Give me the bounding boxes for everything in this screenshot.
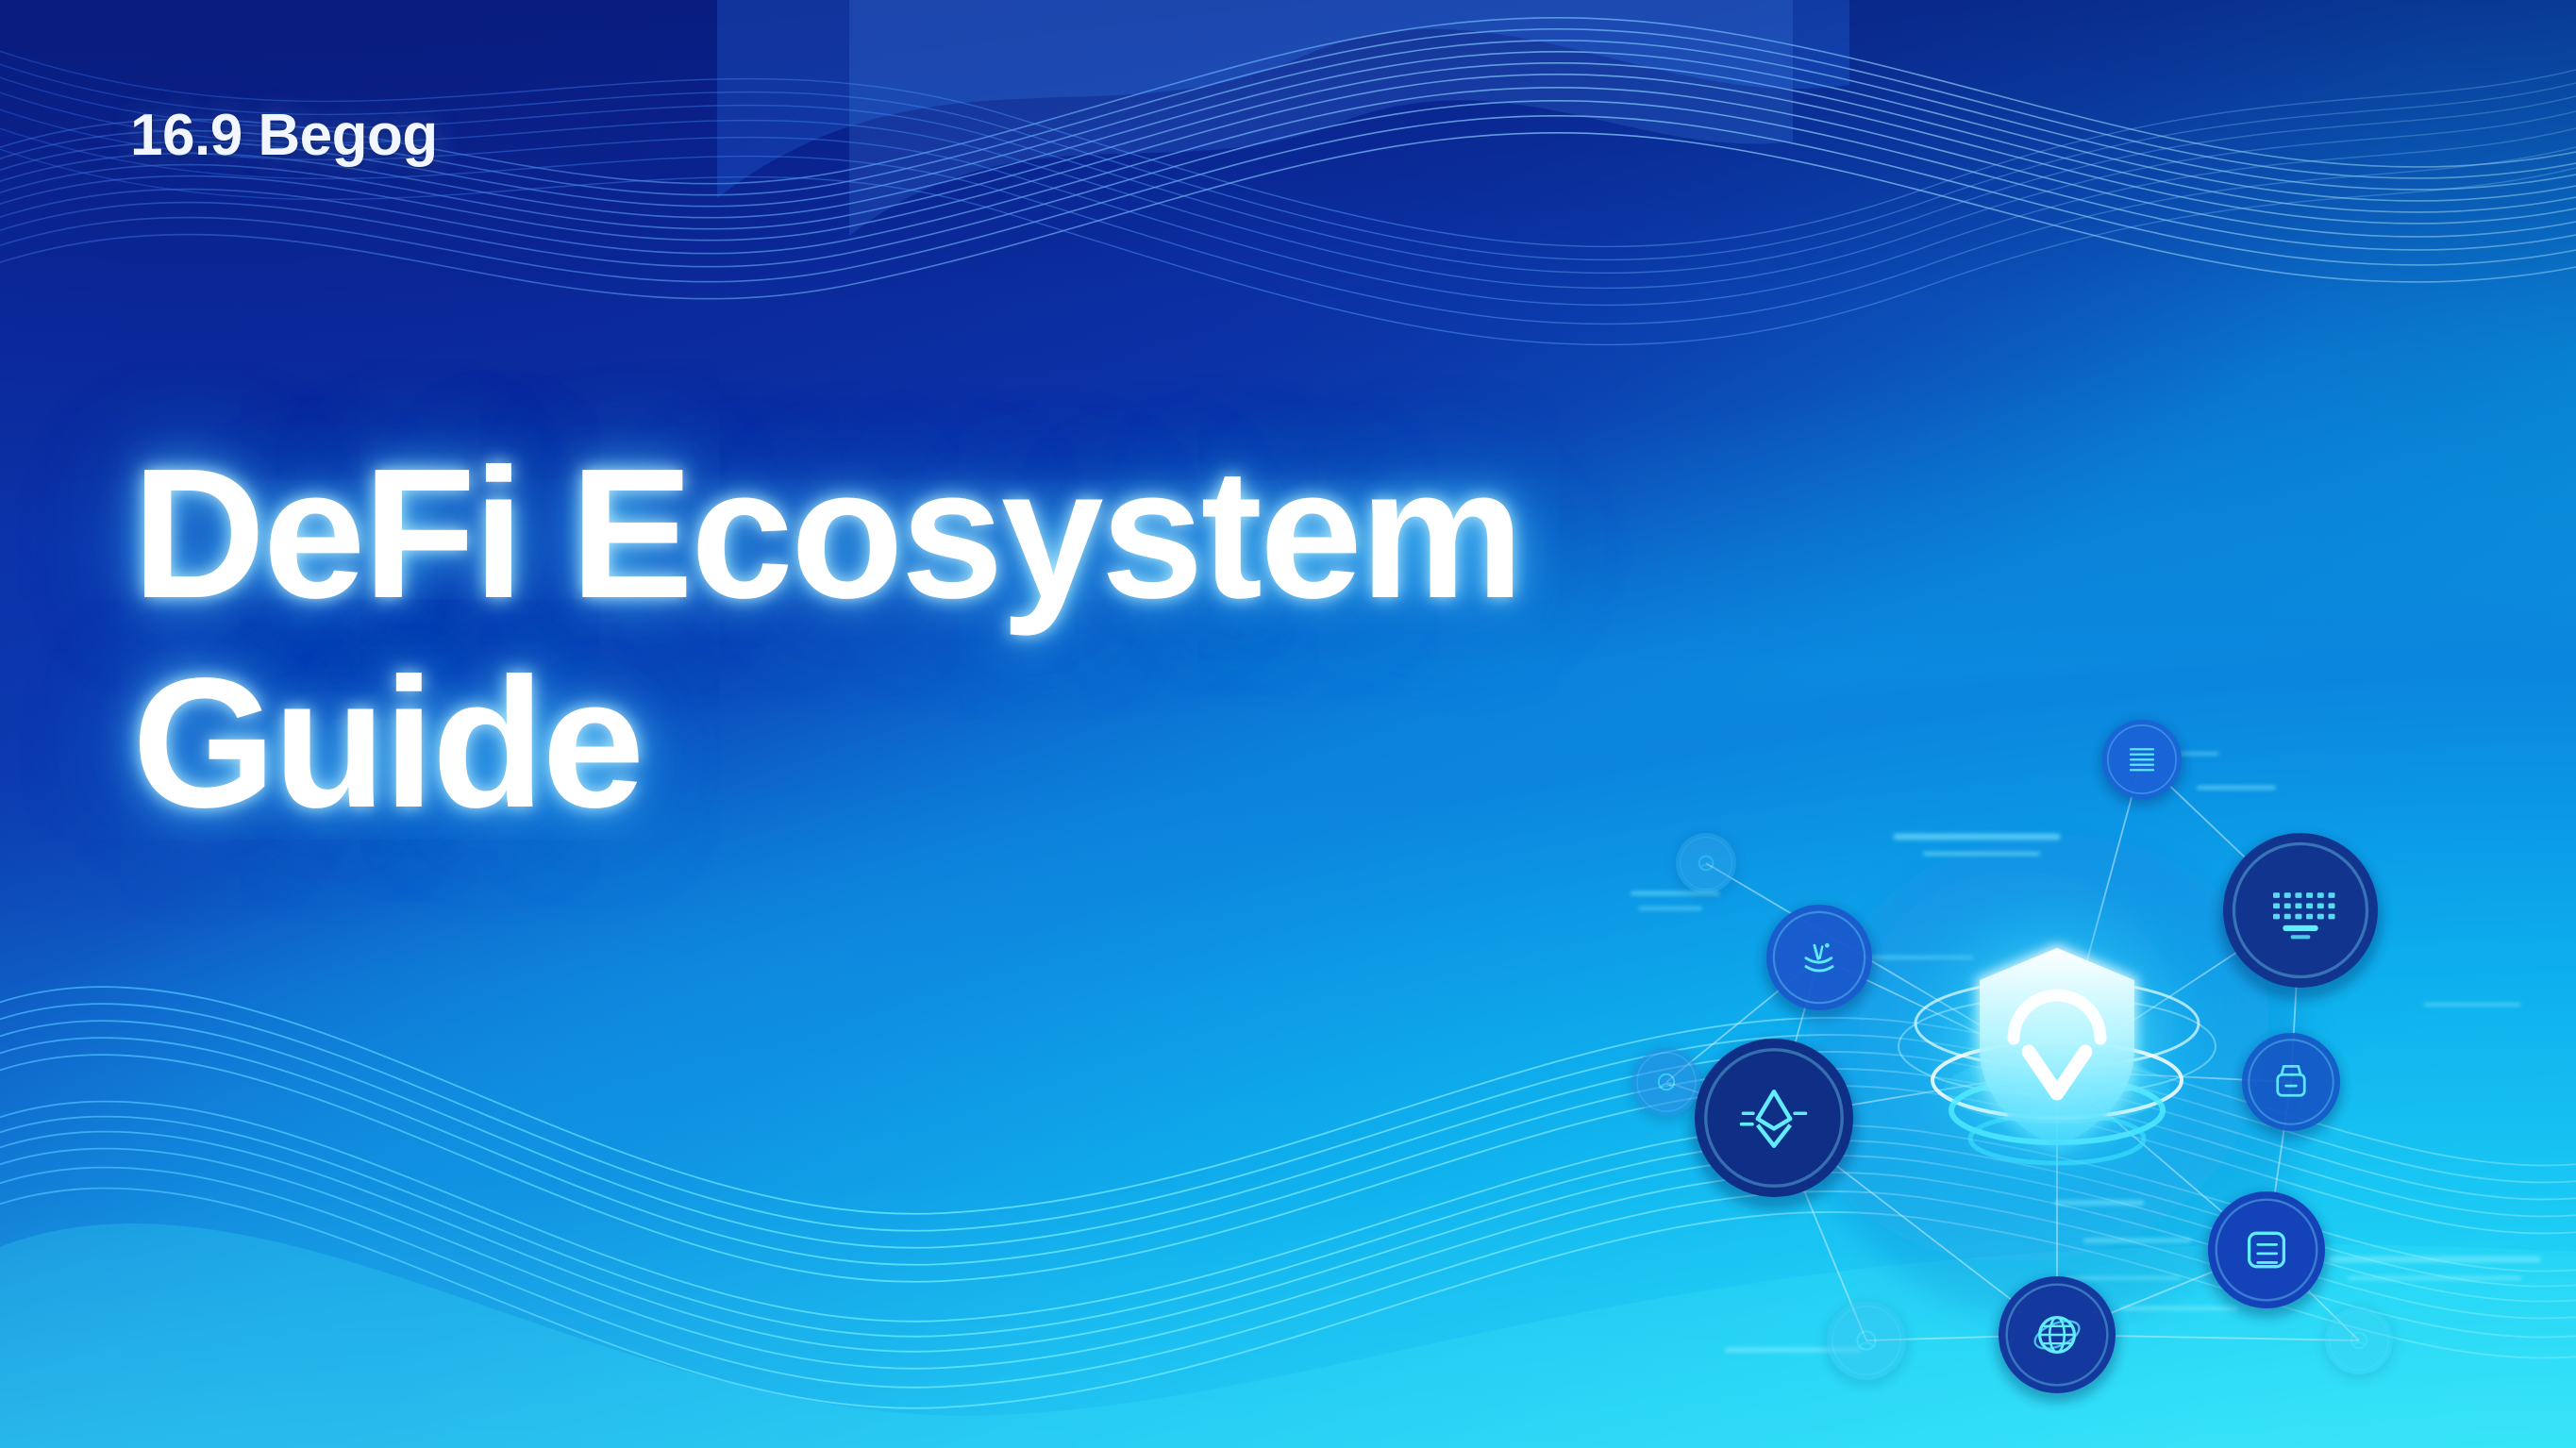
page-title: DeFi Ecosystem Guide — [132, 443, 2019, 834]
network-node-peer-a — [1631, 1048, 1702, 1122]
node-disc — [2325, 1307, 2393, 1374]
node-disc — [2242, 1033, 2340, 1131]
network-node-yield — [1764, 905, 1876, 1019]
network-node-peer-d — [2323, 1307, 2395, 1380]
network-node-peer-c — [1824, 1301, 1908, 1387]
banner-root: 16.9 Begog DeFi Ecosystem Guide — [0, 0, 2576, 1448]
banner-eyebrow-label: 16.9 Begog — [130, 102, 438, 169]
node-disc — [2223, 833, 2378, 988]
network-node-ledger — [2099, 720, 2183, 806]
node-disc — [2208, 1191, 2325, 1308]
page-title-line-2: Guide — [132, 653, 2019, 834]
network-node-blocks — [2218, 833, 2383, 1000]
node-disc — [1676, 833, 1736, 893]
node-disc — [1827, 1301, 1906, 1380]
page-title-line-1: DeFi Ecosystem — [132, 443, 2019, 624]
network-node-peer-b — [1674, 833, 1738, 898]
node-disc — [1695, 1039, 1853, 1197]
node-disc — [1632, 1048, 1700, 1116]
